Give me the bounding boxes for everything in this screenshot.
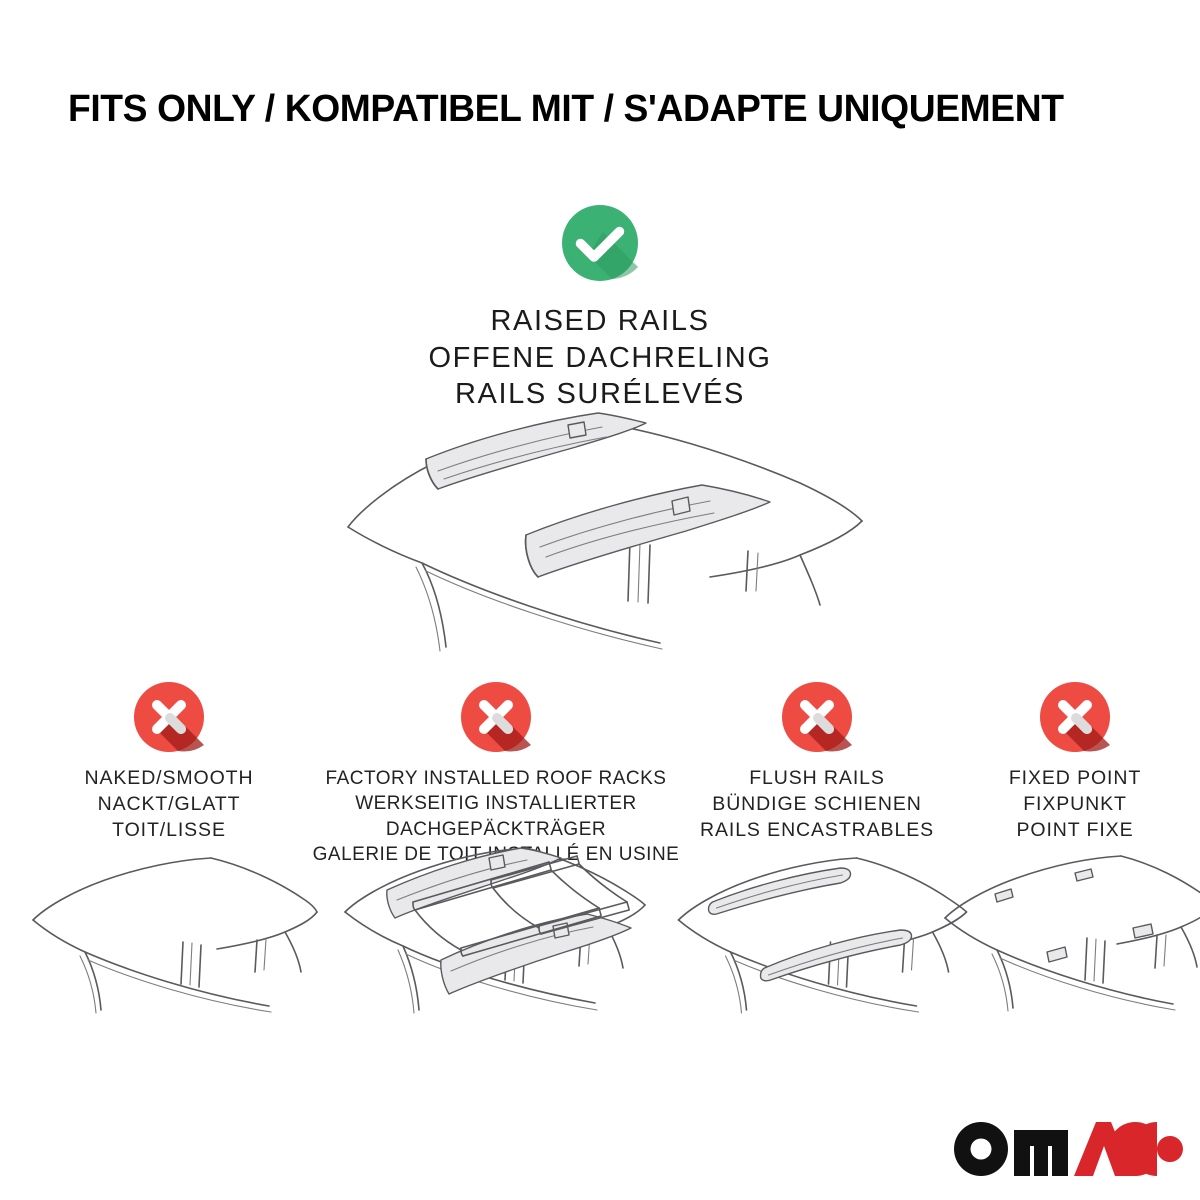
incompatible-item-fixed-point: FIXED POINT FIXPUNKT POINT FIXE [952, 672, 1198, 844]
x-circle-icon [782, 682, 852, 752]
incompatible-labels-fixed-point: FIXED POINT FIXPUNKT POINT FIXE [952, 766, 1198, 844]
label-en: FIXED POINT [952, 766, 1198, 792]
car-roof-with-crossbars-illustration [331, 838, 661, 1033]
incompatible-labels-naked-smooth: NAKED/SMOOTH NACKT/GLATT TOIT/LISSE [24, 766, 314, 844]
page-title: FITS ONLY / KOMPATIBEL MIT / S'ADAPTE UN… [68, 88, 1117, 131]
compatible-label-en: RAISED RAILS [0, 303, 1200, 340]
incompatible-item-naked-smooth: NAKED/SMOOTH NACKT/GLATT TOIT/LISSE [24, 672, 314, 844]
compatible-section: RAISED RAILS OFFENE DACHRELING RAILS SUR… [0, 205, 1200, 413]
incompatible-labels-flush-rails: FLUSH RAILS BÜNDIGE SCHIENEN RAILS ENCAS… [672, 766, 962, 844]
label-en: FACTORY INSTALLED ROOF RACKS [306, 766, 686, 791]
incompatible-item-factory-installed-roof-racks: FACTORY INSTALLED ROOF RACKS WERKSEITIG … [306, 672, 686, 867]
label-de: FIXPUNKT [952, 792, 1198, 818]
label-de-1: WERKSEITIG INSTALLIERTER [306, 791, 686, 816]
label-fr: POINT FIXE [952, 818, 1198, 844]
incompatible-item-flush-rails: FLUSH RAILS BÜNDIGE SCHIENEN RAILS ENCAS… [672, 672, 962, 844]
x-circle-icon [1040, 682, 1110, 752]
check-circle-icon [562, 205, 638, 281]
compatible-label-de: OFFENE DACHRELING [0, 340, 1200, 377]
car-roof-flush-rails-illustration [665, 850, 970, 1030]
car-roof-raised-rails-illustration [330, 405, 870, 665]
label-en: FLUSH RAILS [672, 766, 962, 792]
label-en: NAKED/SMOOTH [24, 766, 314, 792]
x-circle-icon [461, 682, 531, 752]
label-de: BÜNDIGE SCHIENEN [672, 792, 962, 818]
compatible-labels: RAISED RAILS OFFENE DACHRELING RAILS SUR… [0, 303, 1200, 413]
label-fr: TOIT/LISSE [24, 818, 314, 844]
label-de: NACKT/GLATT [24, 792, 314, 818]
car-roof-fixed-point-illustration [935, 850, 1200, 1030]
car-roof-bare-illustration [19, 850, 319, 1030]
x-circle-icon [134, 682, 204, 752]
label-fr: RAILS ENCASTRABLES [672, 818, 962, 844]
incompatible-section: NAKED/SMOOTH NACKT/GLATT TOIT/LISSE [0, 672, 1200, 1072]
omac-logo [948, 1120, 1158, 1178]
